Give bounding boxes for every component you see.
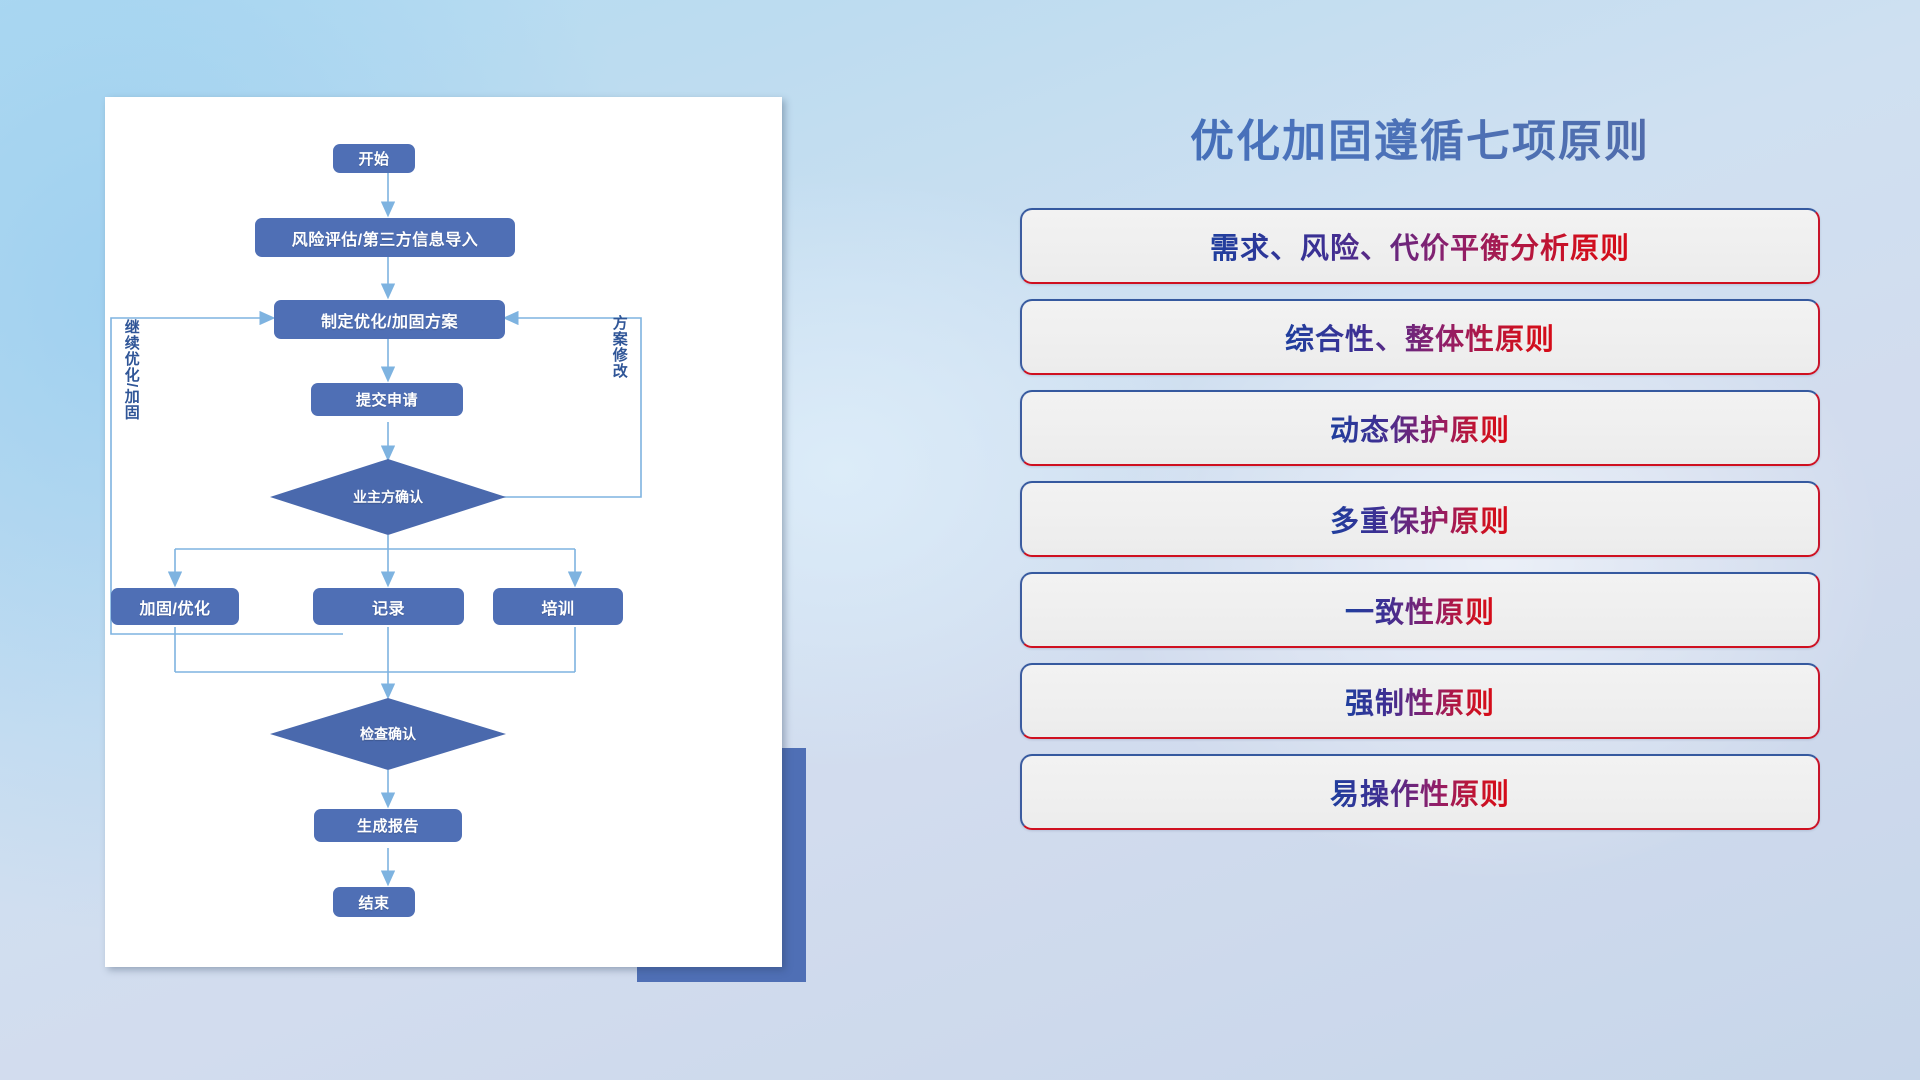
principle-label: 易操作性原则 bbox=[1330, 771, 1510, 813]
flow-node-end-label: 结束 bbox=[358, 892, 389, 913]
flow-node-start-label: 开始 bbox=[358, 148, 389, 169]
flow-node-submit-application-label: 提交申请 bbox=[356, 389, 418, 410]
principle-label: 需求、风险、代价平衡分析原则 bbox=[1210, 225, 1630, 267]
flow-node-start[interactable]: 开始 bbox=[333, 144, 415, 173]
panel-title: 优化加固遵循七项原则 bbox=[1020, 105, 1820, 169]
flow-node-training[interactable]: 培训 bbox=[493, 588, 623, 625]
flow-node-reinforce[interactable]: 加固/优化 bbox=[111, 588, 239, 625]
flowchart: 开始 风险评估/第三方信息导入 制定优化/加固方案 提交申请 业主方确认 加固/… bbox=[105, 97, 782, 967]
flowchart-card: 开始 风险评估/第三方信息导入 制定优化/加固方案 提交申请 业主方确认 加固/… bbox=[105, 97, 782, 967]
principle-item[interactable]: 需求、风险、代价平衡分析原则 bbox=[1020, 208, 1820, 284]
principle-label: 动态保护原则 bbox=[1330, 407, 1510, 449]
flow-node-generate-report-label: 生成报告 bbox=[357, 815, 419, 836]
flow-node-owner-confirm-label: 业主方确认 bbox=[353, 487, 423, 507]
principle-label: 强制性原则 bbox=[1345, 680, 1495, 722]
principle-label: 综合性、整体性原则 bbox=[1285, 316, 1555, 358]
slide-canvas: 开始 风险评估/第三方信息导入 制定优化/加固方案 提交申请 业主方确认 加固/… bbox=[0, 0, 1920, 1080]
edge-label-right-loop: 方案修改 bbox=[611, 315, 627, 379]
principle-item[interactable]: 强制性原则 bbox=[1020, 663, 1820, 739]
flow-node-record-label: 记录 bbox=[372, 595, 405, 619]
flow-node-risk-assessment[interactable]: 风险评估/第三方信息导入 bbox=[255, 218, 515, 257]
principle-item[interactable]: 一致性原则 bbox=[1020, 572, 1820, 648]
flow-node-reinforce-label: 加固/优化 bbox=[140, 595, 211, 619]
principle-item[interactable]: 动态保护原则 bbox=[1020, 390, 1820, 466]
flow-node-training-label: 培训 bbox=[541, 595, 574, 619]
principle-item[interactable]: 综合性、整体性原则 bbox=[1020, 299, 1820, 375]
flow-node-risk-assessment-label: 风险评估/第三方信息导入 bbox=[292, 226, 478, 250]
accent-bar-right bbox=[781, 748, 806, 982]
flow-node-make-plan-label: 制定优化/加固方案 bbox=[321, 308, 458, 332]
flow-node-make-plan[interactable]: 制定优化/加固方案 bbox=[274, 300, 505, 339]
flow-node-generate-report[interactable]: 生成报告 bbox=[314, 809, 462, 842]
flow-node-record[interactable]: 记录 bbox=[313, 588, 464, 625]
principles-list: 需求、风险、代价平衡分析原则 综合性、整体性原则 动态保护原则 多重保护原则 一… bbox=[1020, 208, 1820, 845]
principle-item[interactable]: 多重保护原则 bbox=[1020, 481, 1820, 557]
principle-item[interactable]: 易操作性原则 bbox=[1020, 754, 1820, 830]
principle-label: 多重保护原则 bbox=[1330, 498, 1510, 540]
principles-panel: 优化加固遵循七项原则 需求、风险、代价平衡分析原则 综合性、整体性原则 动态保护… bbox=[1020, 80, 1820, 1020]
principle-label: 一致性原则 bbox=[1345, 589, 1495, 631]
flow-node-submit-application[interactable]: 提交申请 bbox=[311, 383, 463, 416]
flow-node-check-label: 检查确认 bbox=[360, 724, 416, 744]
edge-label-left-loop: 继续优化/加固 bbox=[123, 319, 139, 420]
flow-node-end[interactable]: 结束 bbox=[333, 887, 415, 917]
